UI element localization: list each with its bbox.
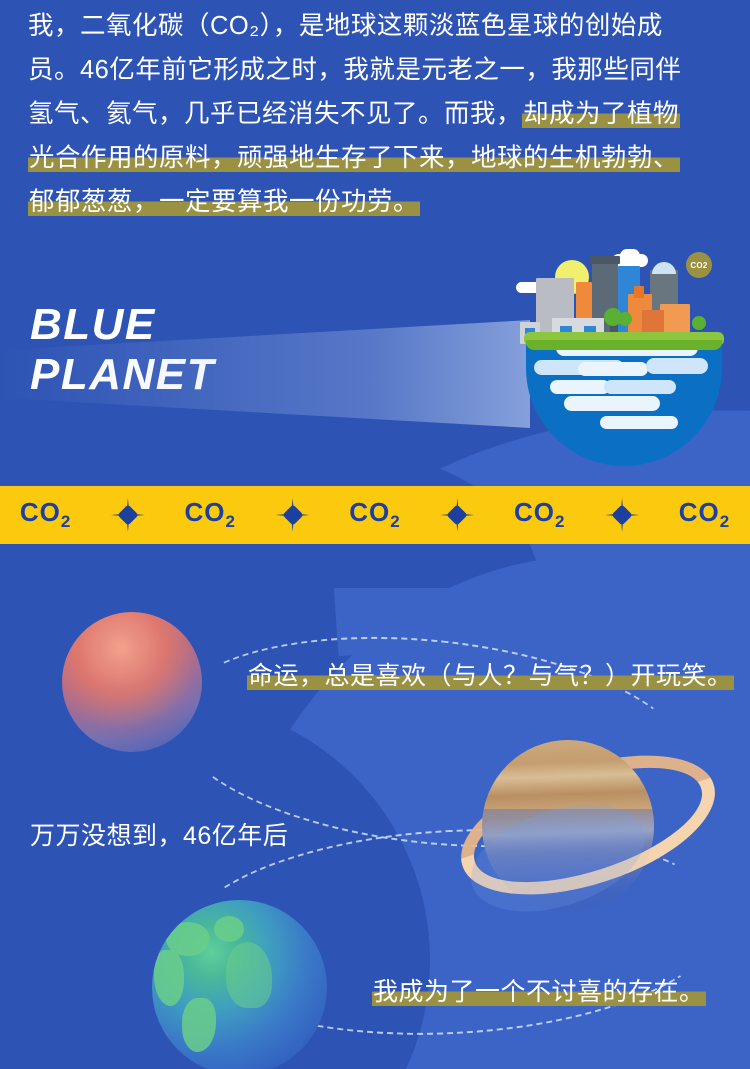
saturn-planet <box>448 718 728 923</box>
co2-label: CO2 <box>20 497 71 532</box>
co2-label: CO2 <box>679 497 730 532</box>
star-separator-icon <box>111 498 145 532</box>
paragraph-line-5: 郁郁葱葱，一定要算我一份功劳。 <box>28 180 728 224</box>
paragraph-line-5-highlight: 郁郁葱葱，一定要算我一份功劳。 <box>28 188 420 216</box>
cloud-layer <box>600 416 678 429</box>
caption-saturn: 万万没想到，46亿年后 <box>30 816 288 856</box>
co2-label: CO2 <box>349 497 400 532</box>
chimney <box>634 286 644 298</box>
cloud-layer <box>604 380 676 394</box>
cloud-layer <box>578 362 648 376</box>
continent <box>154 950 184 1006</box>
cloud-layer <box>646 358 708 374</box>
co2-badge-icon: CO2 <box>686 252 712 278</box>
paragraph-line-4-highlight: 光合作用的原料，顽强地生存了下来，地球的生机勃勃、 <box>28 144 680 172</box>
cloud-layer <box>550 380 610 394</box>
earth-globe <box>152 900 327 1069</box>
caption-earth: 我成为了一个不讨喜的存在。 <box>372 972 706 1012</box>
island-soil <box>526 340 722 350</box>
city-island-illustration: CO2 <box>500 248 750 453</box>
continent <box>214 916 244 942</box>
building-top <box>590 256 620 264</box>
co2-label: CO2 <box>514 497 565 532</box>
continent <box>182 998 216 1052</box>
cloud-water-base <box>526 336 722 466</box>
building-dome <box>652 262 676 274</box>
co2-label: CO2 <box>185 497 236 532</box>
star-separator-icon <box>440 498 474 532</box>
cloud-icon <box>620 249 640 263</box>
star-separator-icon <box>276 498 310 532</box>
intro-paragraph: 我，二氧化碳（CO₂），是地球这颗淡蓝色星球的创始成 员。46亿年前它形成之时，… <box>28 4 728 224</box>
paragraph-line-4: 光合作用的原料，顽强地生存了下来，地球的生机勃勃、 <box>28 136 728 180</box>
co2-divider-band: CO2 CO2 CO2 CO2 CO2 <box>0 486 750 544</box>
mars-planet <box>62 612 202 752</box>
paragraph-line-3-highlight: 却成为了植物 <box>522 100 680 128</box>
caption-mars: 命运，总是喜欢（与人？与气？）开玩笑。 <box>247 656 734 696</box>
paragraph-line-2: 员。46亿年前它形成之时，我就是元老之一，我那些同伴 <box>28 48 728 92</box>
infographic-page: 我，二氧化碳（CO₂），是地球这颗淡蓝色星球的创始成 员。46亿年前它形成之时，… <box>0 0 750 1069</box>
tree-icon <box>618 312 632 326</box>
star-separator-icon <box>605 498 639 532</box>
continent <box>226 942 272 1008</box>
paragraph-line-1: 我，二氧化碳（CO₂），是地球这颗淡蓝色星球的创始成 <box>28 4 728 48</box>
paragraph-line-3: 氢气、氦气，几乎已经消失不见了。而我，却成为了植物 <box>28 92 728 136</box>
tree-icon <box>692 316 706 330</box>
cloud-layer <box>564 396 660 411</box>
